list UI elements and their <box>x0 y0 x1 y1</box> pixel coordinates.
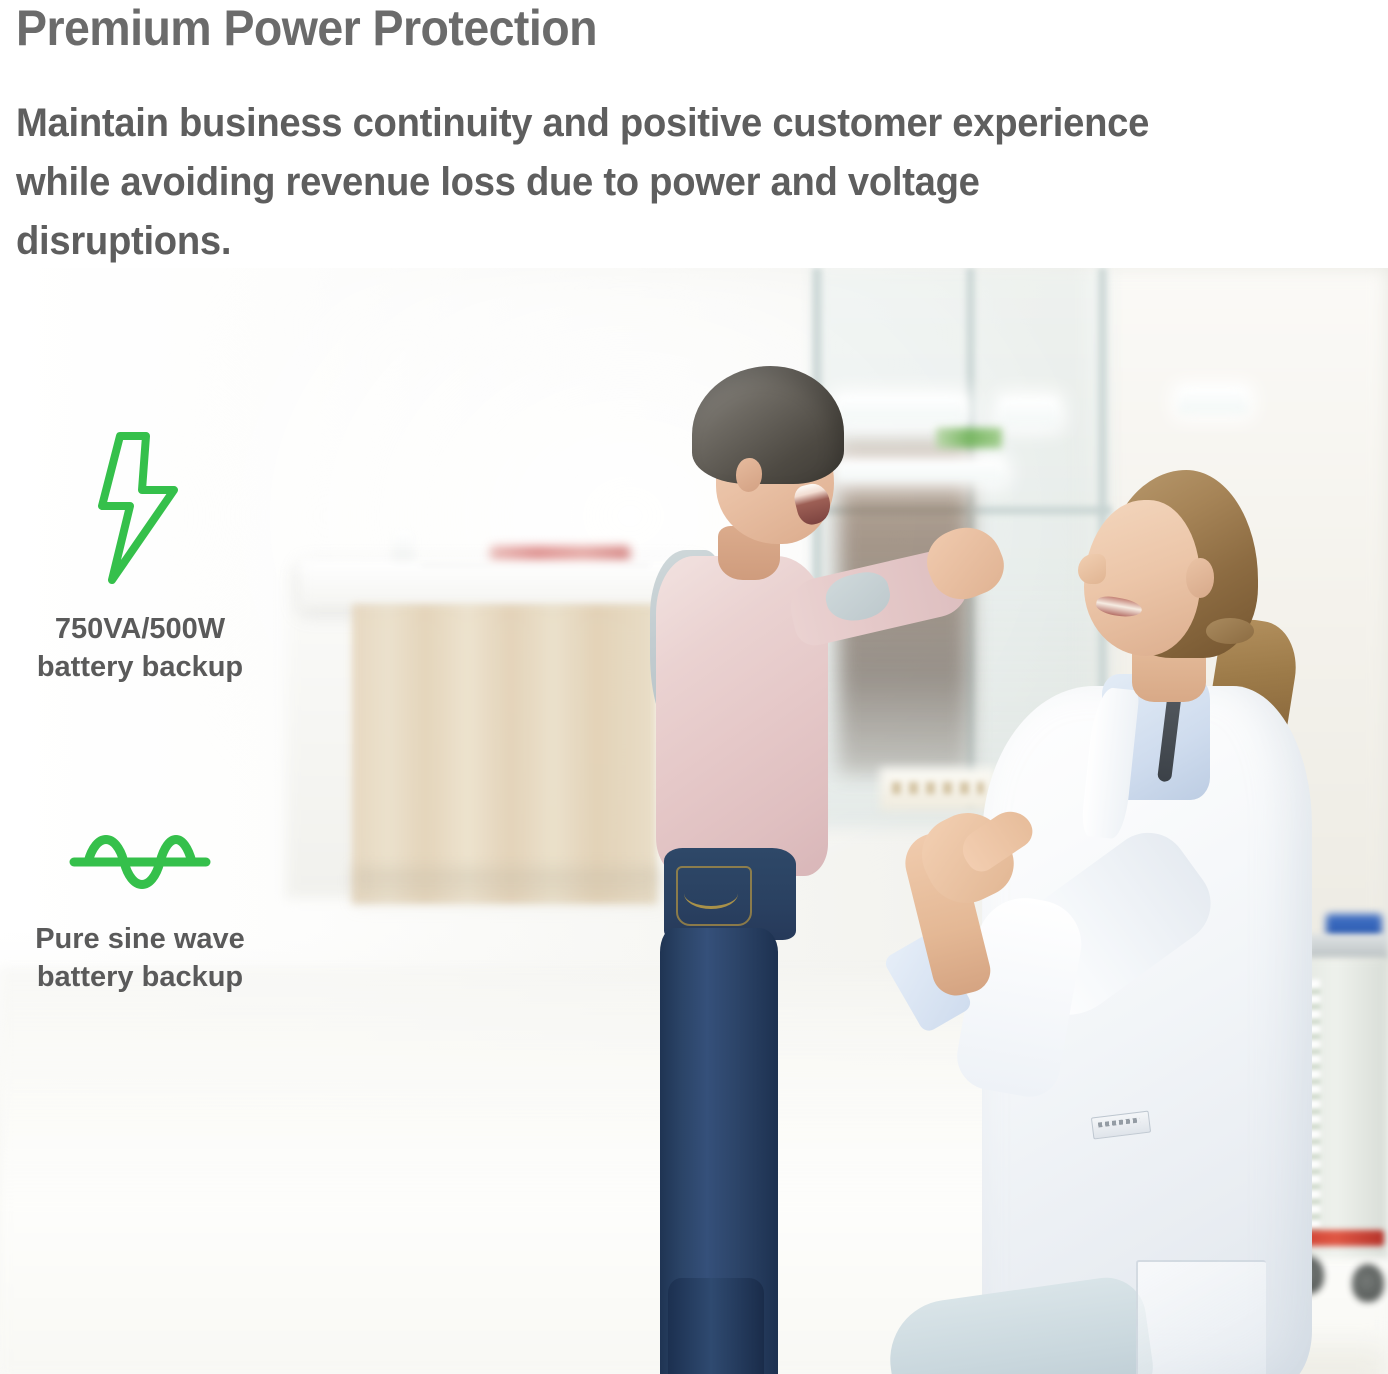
feature-label-pure-sine-wave: Pure sine wave battery backup <box>0 920 280 996</box>
reception-desk-shadow <box>352 868 662 914</box>
cart-top-tray <box>1308 934 1388 960</box>
doctor-ear <box>1186 558 1214 598</box>
doctor-hair-band <box>1206 618 1254 644</box>
page-title: Premium Power Protection <box>16 0 946 58</box>
reception-desk-top <box>300 560 700 608</box>
door-sign-text <box>892 782 984 794</box>
cart-wheel-right <box>1352 1264 1384 1302</box>
reception-desk-wood-panel <box>352 604 657 904</box>
ceiling-light-1 <box>836 396 966 422</box>
ceiling-light-4 <box>1178 388 1248 414</box>
ceiling-light-3 <box>1000 398 1058 426</box>
doctor-coat-pocket <box>1136 1260 1266 1374</box>
boy-jeans-pocket-stitching <box>684 878 738 909</box>
boy-jeans-lower-leg <box>668 1278 764 1374</box>
lightning-bolt-icon <box>96 430 182 595</box>
feature-label-battery-backup: 750VA/500W battery backup <box>0 610 280 686</box>
sine-wave-icon <box>66 830 214 899</box>
ceiling-light-2 <box>836 460 1004 482</box>
exit-sign <box>936 428 1002 448</box>
doctor-nose <box>1078 554 1106 584</box>
marketing-banner: Premium Power Protection Maintain busine… <box>0 0 1388 1374</box>
page-subtitle: Maintain business continuity and positiv… <box>16 94 1200 271</box>
hospital-corridor-photo <box>0 268 1388 1374</box>
